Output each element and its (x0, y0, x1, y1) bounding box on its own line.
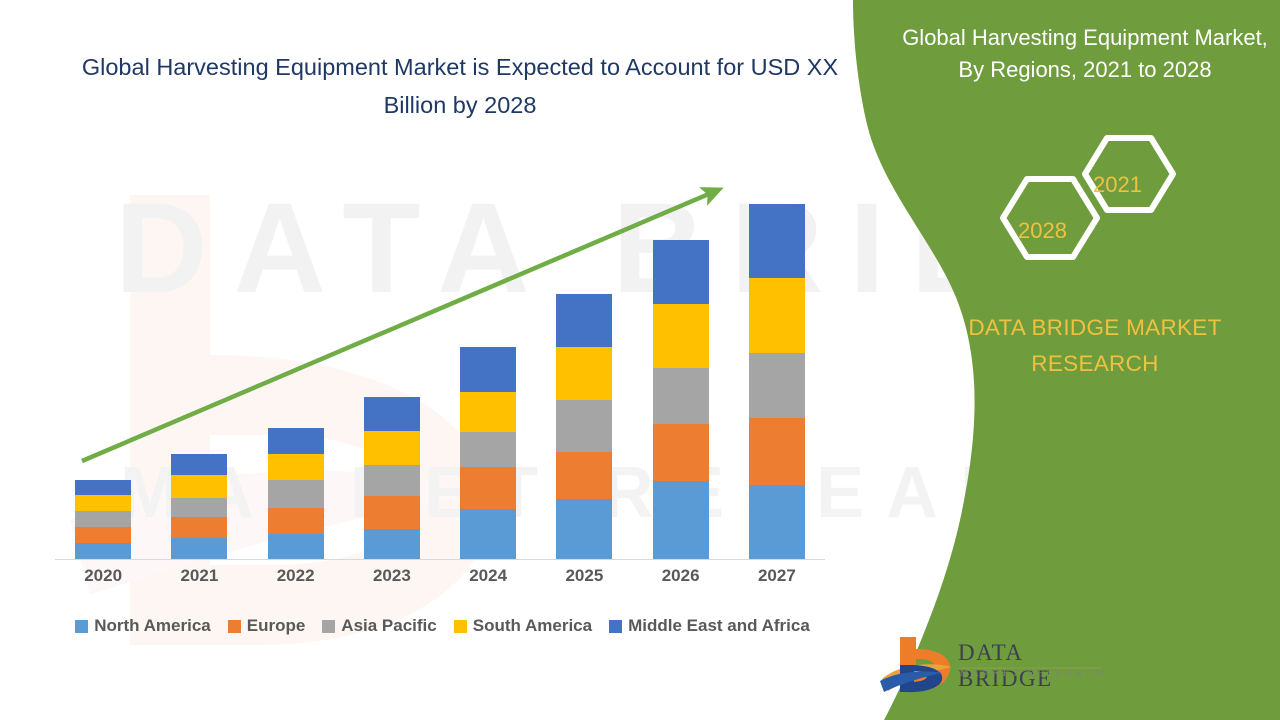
bar-segment (171, 475, 227, 498)
hex-label-2028: 2028 (1018, 218, 1067, 244)
bar-2027 (749, 204, 805, 559)
bar-segment (364, 529, 420, 559)
bar-segment (364, 465, 420, 496)
chart-plot-area (55, 160, 825, 560)
bar-segment (75, 543, 131, 559)
x-axis-label-2020: 2020 (58, 566, 148, 586)
x-axis-line (55, 559, 825, 560)
legend-label: Europe (247, 616, 306, 636)
bar-segment (653, 481, 709, 559)
bar-segment (268, 534, 324, 559)
bar-segment (364, 397, 420, 431)
hexagon-shapes-icon (975, 132, 1190, 277)
bar-2025 (556, 294, 612, 559)
x-axis-label-2021: 2021 (154, 566, 244, 586)
x-axis-label-2026: 2026 (636, 566, 726, 586)
panel-title: Global Harvesting Equipment Market, By R… (900, 22, 1270, 86)
bar-segment (364, 431, 420, 465)
legend-swatch-icon (322, 620, 335, 633)
bar-segment (364, 496, 420, 529)
chart-legend: North AmericaEuropeAsia PacificSouth Ame… (55, 616, 830, 636)
legend-item-south-america[interactable]: South America (454, 616, 592, 636)
databridge-logo-icon (880, 635, 956, 693)
legend-swatch-icon (228, 620, 241, 633)
x-axis-labels: 20202021202220232024202520262027 (55, 566, 825, 592)
legend-swatch-icon (454, 620, 467, 633)
bar-segment (268, 454, 324, 480)
bar-segment (75, 527, 131, 543)
bar-segment (556, 452, 612, 499)
bar-segment (171, 517, 227, 538)
legend-label: South America (473, 616, 592, 636)
bar-segment (75, 495, 131, 511)
bar-segment (460, 347, 516, 392)
legend-label: Middle East and Africa (628, 616, 810, 636)
legend-swatch-icon (75, 620, 88, 633)
x-axis-label-2025: 2025 (539, 566, 629, 586)
bar-segment (653, 240, 709, 304)
bar-segment (653, 304, 709, 368)
legend-item-asia-pacific[interactable]: Asia Pacific (322, 616, 436, 636)
legend-label: North America (94, 616, 211, 636)
bar-segment (460, 392, 516, 432)
slide-canvas: DATA BRIDGE MARKET RESEARCH Global Harve… (0, 0, 1280, 720)
x-axis-label-2023: 2023 (347, 566, 437, 586)
bar-segment (171, 454, 227, 475)
chart-title: Global Harvesting Equipment Market is Ex… (70, 48, 850, 124)
bar-segment (749, 418, 805, 485)
x-axis-label-2022: 2022 (251, 566, 341, 586)
x-axis-label-2027: 2027 (732, 566, 822, 586)
bar-segment (749, 204, 805, 278)
bar-segment (653, 424, 709, 481)
logo-text-main: DATA BRIDGE (958, 640, 1110, 692)
bar-segment (268, 428, 324, 454)
bar-segment (556, 294, 612, 347)
bar-segment (556, 347, 612, 400)
bar-2024 (460, 347, 516, 559)
bar-segment (268, 508, 324, 534)
bar-2023 (364, 397, 420, 559)
legend-label: Asia Pacific (341, 616, 436, 636)
brand-name: DATA BRIDGE MARKET RESEARCH (930, 310, 1260, 382)
hexagon-group: 2021 2028 (975, 132, 1190, 277)
bar-2021 (171, 454, 227, 559)
bar-segment (653, 368, 709, 424)
bar-segment (749, 278, 805, 353)
bar-2022 (268, 428, 324, 559)
hex-label-2021: 2021 (1093, 172, 1142, 198)
bar-segment (556, 400, 612, 452)
legend-item-europe[interactable]: Europe (228, 616, 306, 636)
legend-item-middle-east-and-africa[interactable]: Middle East and Africa (609, 616, 810, 636)
bar-segment (268, 480, 324, 508)
bar-segment (460, 432, 516, 467)
bar-segment (75, 480, 131, 495)
legend-swatch-icon (609, 620, 622, 633)
bar-segment (171, 498, 227, 517)
bar-segment (749, 353, 805, 418)
bar-2020 (75, 480, 131, 559)
bar-segment (556, 499, 612, 559)
bar-segment (171, 538, 227, 559)
x-axis-label-2024: 2024 (443, 566, 533, 586)
logo-text-sub: MARKET RESEARCH (960, 669, 1106, 679)
legend-item-north-america[interactable]: North America (75, 616, 211, 636)
bar-segment (460, 467, 516, 509)
bar-segment (749, 485, 805, 559)
bar-segment (460, 509, 516, 559)
company-logo: DATA BRIDGE MARKET RESEARCH (880, 635, 1110, 697)
bar-2026 (653, 240, 709, 559)
bar-segment (75, 511, 131, 527)
